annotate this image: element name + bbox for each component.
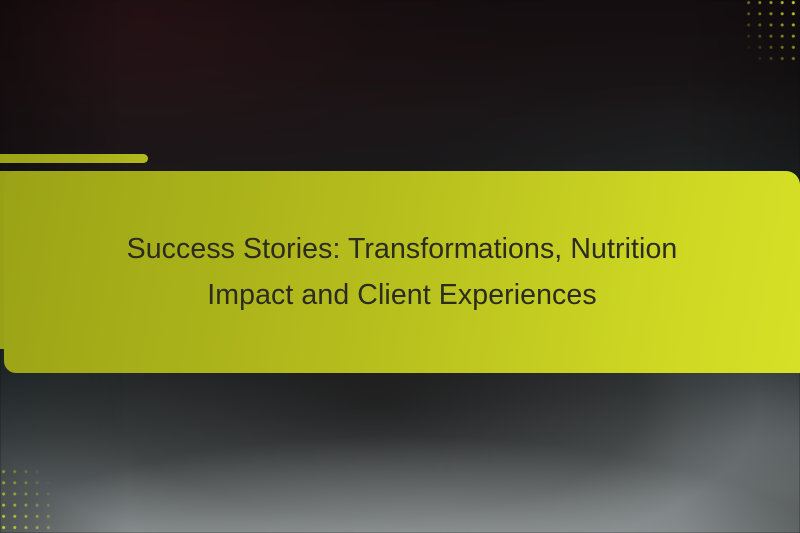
page-title-line-1: Success Stories: Transformations, Nutrit… (127, 229, 678, 269)
presentation-slide: Success Stories: Transformations, Nutrit… (0, 0, 800, 533)
title-banner: Success Stories: Transformations, Nutrit… (0, 171, 800, 373)
page-title-line-2: Impact and Client Experiences (207, 275, 596, 315)
page-title: Success Stories: Transformations, Nutrit… (4, 171, 800, 373)
accent-bar (0, 154, 148, 163)
